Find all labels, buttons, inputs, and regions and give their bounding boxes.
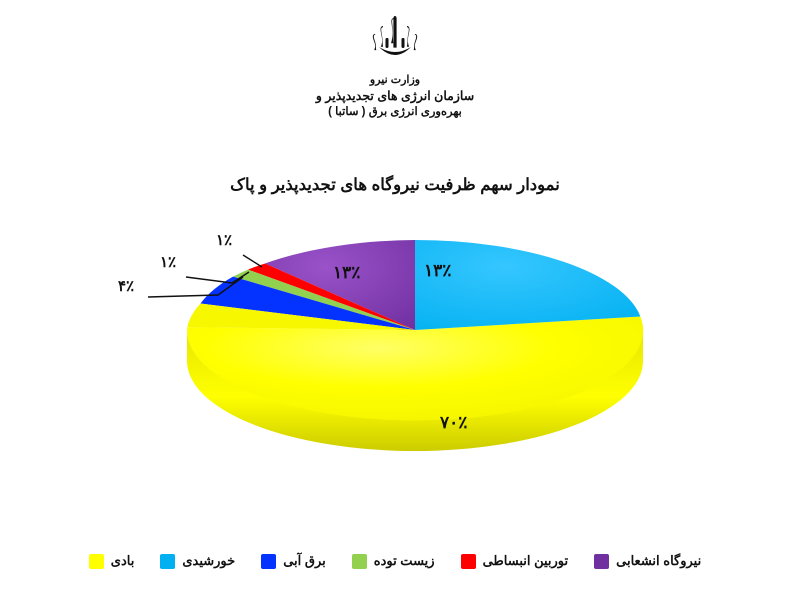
pie-chart: ۴٪ ۱٪ ۱٪ ۱۳٪ ۱۳٪ ۷۰٪	[0, 215, 790, 505]
callout-label-1pct-b: ۱٪	[216, 231, 232, 249]
legend-swatch-khorshidi	[160, 554, 175, 569]
pie-chart-svg	[0, 215, 790, 505]
legend-item-badi[interactable]: بادی	[89, 553, 135, 569]
legend-item-zist-tudeh[interactable]: زیست توده	[352, 553, 435, 569]
org-line-3: بهره‌وری انرژی برق ( ساتبا )	[328, 105, 462, 121]
legend-label-zist-tudeh: زیست توده	[374, 553, 435, 569]
legend-swatch-barghabi	[261, 554, 276, 569]
legend-swatch-niroogah	[594, 554, 609, 569]
leader-line-1pct-b	[243, 255, 262, 267]
legend-swatch-badi	[89, 554, 104, 569]
legend-item-barghabi[interactable]: برق آبی	[261, 553, 326, 569]
legend-label-badi: بادی	[111, 553, 135, 569]
legend-label-niroogah: نیروگاه انشعابی	[616, 553, 701, 569]
legend-item-turbine[interactable]: توربین انبساطی	[461, 553, 569, 569]
callout-label-4pct: ۴٪	[118, 277, 134, 295]
page-root: وزارت نیرو سازمان انرژی های تجدیدپذیر و …	[0, 0, 790, 611]
chart-title: نمودار سهم ظرفیت نیروگاه های تجدیدپذیر و…	[0, 175, 790, 195]
legend-label-barghabi: برق آبی	[283, 553, 326, 569]
org-line-1: وزارت نیرو	[370, 73, 420, 88]
legend-label-turbine: توربین انبساطی	[483, 553, 569, 569]
legend-swatch-turbine	[461, 554, 476, 569]
slice-label-purple: ۱۳٪	[333, 263, 360, 283]
legend-swatch-zist-tudeh	[352, 554, 367, 569]
slice-label-yellow: ۷۰٪	[440, 413, 467, 433]
chart-legend: بادی خورشیدی برق آبی زیست توده توربین ان…	[0, 553, 790, 569]
organization-header: وزارت نیرو سازمان انرژی های تجدیدپذیر و …	[0, 14, 790, 120]
iran-emblem-icon	[363, 14, 427, 72]
callout-label-1pct-a: ۱٪	[160, 253, 176, 271]
legend-item-khorshidi[interactable]: خورشیدی	[160, 553, 235, 569]
legend-label-khorshidi: خورشیدی	[182, 553, 235, 569]
org-line-2: سازمان انرژی های تجدیدپذیر و	[316, 88, 474, 105]
legend-item-niroogah[interactable]: نیروگاه انشعابی	[594, 553, 701, 569]
pie-slice-khorshidi	[415, 240, 640, 330]
slice-label-cyan: ۱۳٪	[424, 261, 451, 281]
